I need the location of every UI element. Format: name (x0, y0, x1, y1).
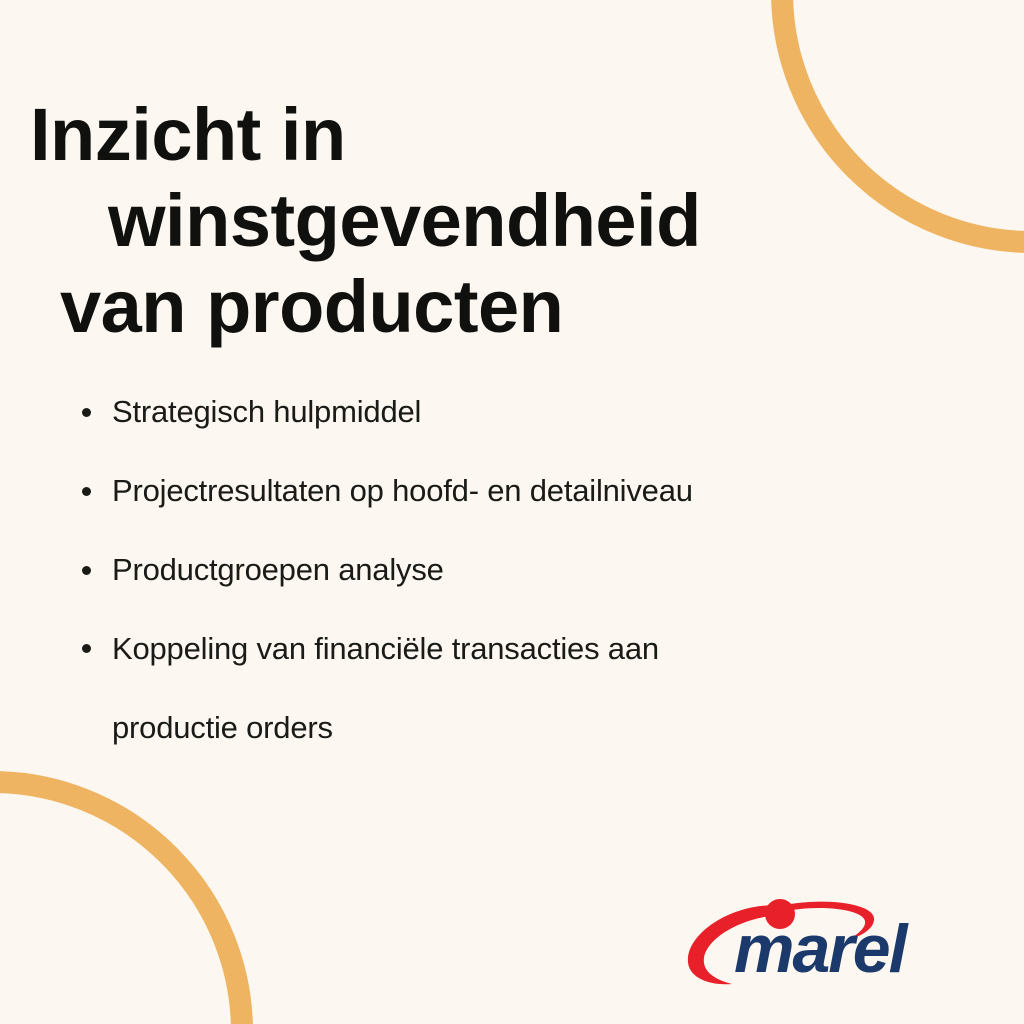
title-line-2: winstgevendheid (0, 178, 1000, 264)
list-item-label: Projectresultaten op hoofd- en detailniv… (112, 451, 958, 530)
marel-logo: marel (676, 892, 976, 992)
list-item: Strategisch hulpmiddel (78, 372, 958, 451)
list-item-label: Strategisch hulpmiddel (112, 372, 958, 451)
logo-wordmark: marel (734, 911, 910, 987)
title-line-1: Inzicht in (0, 92, 1000, 178)
slide-content: Inzicht in winstgevendheid van producten… (0, 0, 1024, 1024)
list-item-label-continued: productie orders (112, 688, 958, 767)
list-item: Projectresultaten op hoofd- en detailniv… (78, 451, 958, 530)
bullet-list: Strategisch hulpmiddel Projectresultaten… (78, 372, 958, 767)
bullet-dot-icon (82, 566, 91, 575)
title-line-3: van producten (0, 264, 1000, 350)
bullet-dot-icon (82, 408, 91, 417)
bullet-dot-icon (82, 644, 91, 653)
page-title: Inzicht in winstgevendheid van producten (0, 92, 1000, 350)
list-item: Productgroepen analyse (78, 530, 958, 609)
list-item: Koppeling van financiële transacties aan… (78, 609, 958, 767)
bullet-dot-icon (82, 487, 91, 496)
list-item-label: Productgroepen analyse (112, 530, 958, 609)
list-item-label: Koppeling van financiële transacties aan (112, 609, 958, 688)
